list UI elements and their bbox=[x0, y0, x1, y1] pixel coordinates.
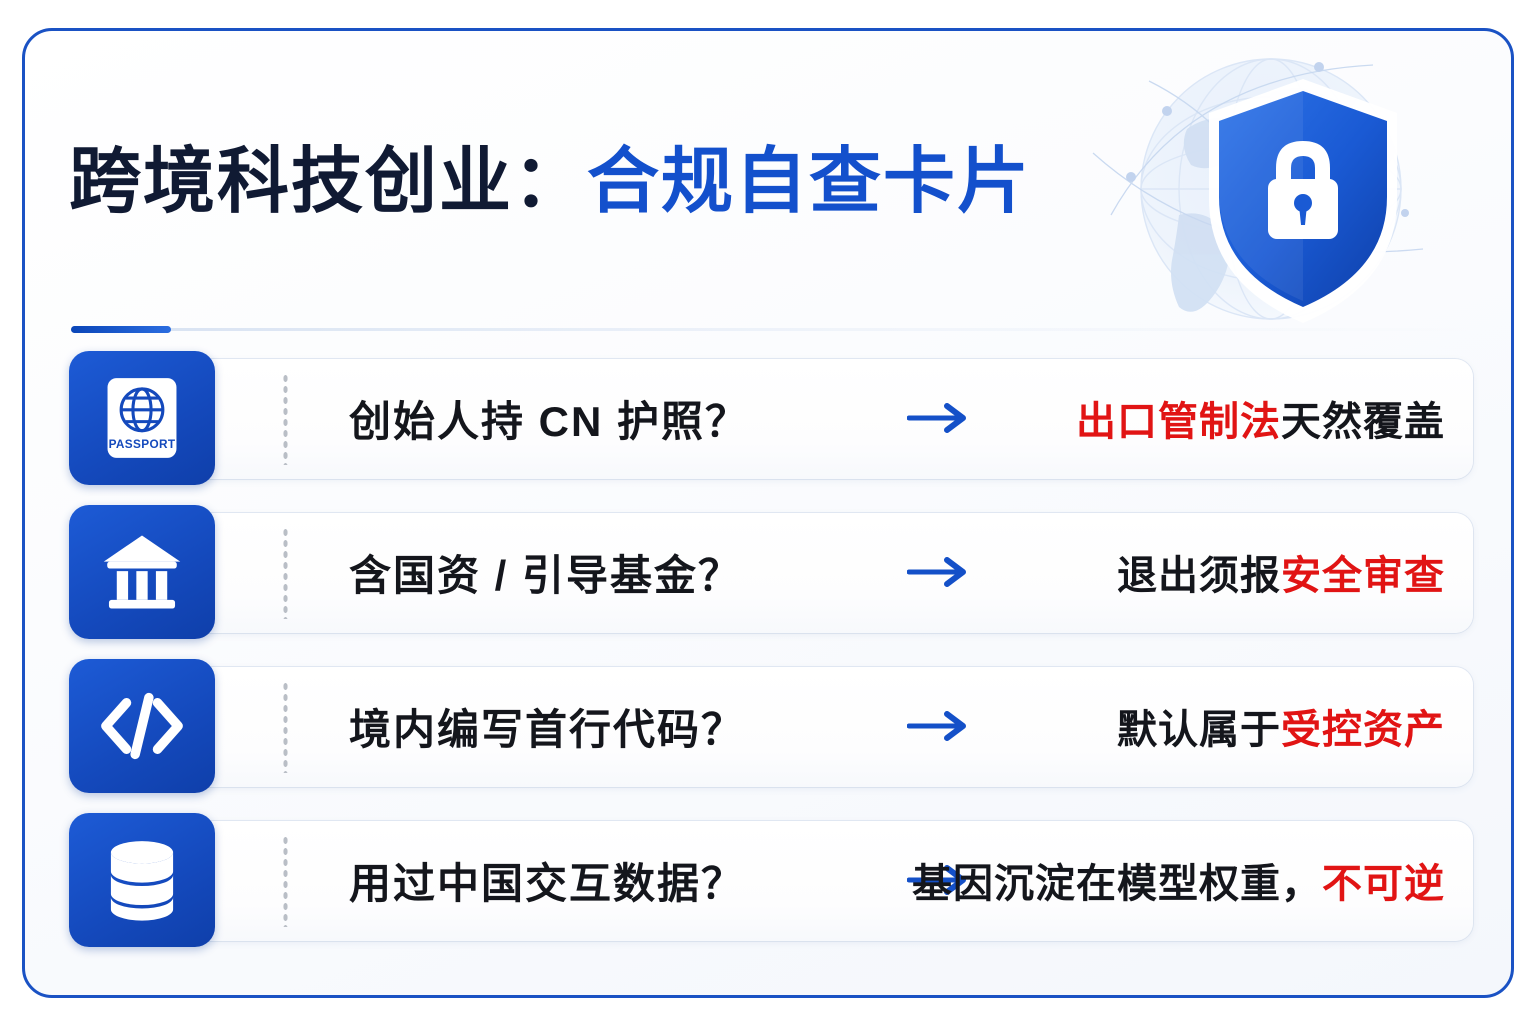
row-answer-rest: 天然覆盖 bbox=[1281, 389, 1445, 447]
row-question: 境内编写首行代码？ bbox=[349, 659, 745, 793]
row-answer-highlight: 安全审查 bbox=[1281, 543, 1445, 601]
row-question: 含国资 / 引导基金？ bbox=[349, 505, 742, 639]
title-primary: 跨境科技创业： bbox=[69, 142, 587, 222]
row-question: 创始人持 CN 护照？ bbox=[349, 351, 749, 485]
checklist-row[interactable]: 含国资 / 引导基金？ 退出须报安全审查 bbox=[69, 505, 1473, 639]
checklist-row[interactable]: 用过中国交互数据？ 基因沉淀在模型权重，不可逆 bbox=[69, 813, 1473, 947]
svg-text:PASSPORT: PASSPORT bbox=[109, 438, 176, 451]
title-underline bbox=[71, 326, 1471, 334]
arrow-right-icon bbox=[907, 659, 971, 793]
passport-icon: PASSPORT bbox=[69, 351, 215, 485]
compliance-checklist-card: 跨境科技创业：合规自查卡片 PASSPORT bbox=[22, 28, 1514, 998]
row-answer: 基因沉淀在模型权重，不可逆 bbox=[912, 813, 1445, 947]
row-answer: 默认属于受控资产 bbox=[1117, 659, 1445, 793]
row-answer-highlight: 出口管制法 bbox=[1076, 389, 1281, 447]
checklist-rows: PASSPORT 创始人持 CN 护照？ 出口管制法天然覆盖 bbox=[69, 351, 1473, 967]
row-divider-dots bbox=[282, 835, 289, 927]
row-answer-highlight: 不可逆 bbox=[1322, 851, 1445, 909]
row-answer: 退出须报安全审查 bbox=[1117, 505, 1445, 639]
row-answer-rest: 基因沉淀在模型权重， bbox=[912, 851, 1322, 909]
row-answer-highlight: 受控资产 bbox=[1281, 697, 1445, 755]
title-underline-accent bbox=[71, 326, 171, 333]
row-question: 用过中国交互数据？ bbox=[349, 813, 745, 947]
row-divider-dots bbox=[282, 373, 289, 465]
checklist-row[interactable]: PASSPORT 创始人持 CN 护照？ 出口管制法天然覆盖 bbox=[69, 351, 1473, 485]
checklist-row[interactable]: 境内编写首行代码？ 默认属于受控资产 bbox=[69, 659, 1473, 793]
database-icon bbox=[69, 813, 215, 947]
page-title: 跨境科技创业：合规自查卡片 bbox=[69, 143, 1189, 222]
bank-icon bbox=[69, 505, 215, 639]
arrow-right-icon bbox=[907, 351, 971, 485]
row-answer-rest: 默认属于 bbox=[1117, 697, 1281, 755]
row-answer-rest: 退出须报 bbox=[1117, 543, 1281, 601]
arrow-right-icon bbox=[907, 505, 971, 639]
title-underline-track bbox=[71, 328, 1471, 331]
code-icon bbox=[69, 659, 215, 793]
row-answer: 出口管制法天然覆盖 bbox=[1076, 351, 1445, 485]
title-accent: 合规自查卡片 bbox=[587, 142, 1031, 222]
row-divider-dots bbox=[282, 527, 289, 619]
row-divider-dots bbox=[282, 681, 289, 773]
